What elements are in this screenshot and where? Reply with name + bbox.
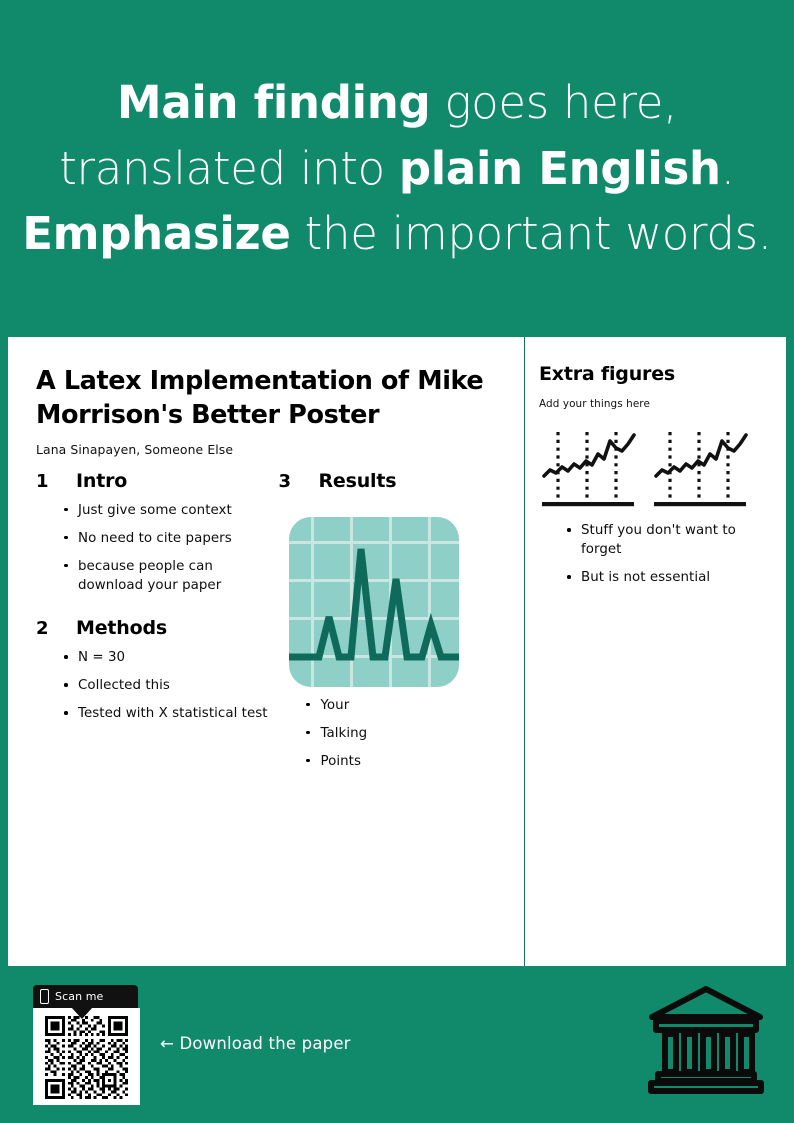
header-line-3: Emphasize the important words. [22,201,772,267]
methods-bullet-list: N = 30 Collected this Tested with X stat… [36,648,278,723]
institution-logo [646,983,766,1095]
badge-pointer-icon [71,1007,93,1019]
poster-body: A Latex Implementation of Mike Morrison'… [8,337,786,966]
section-title-methods: Methods [76,617,167,639]
section-heading-methods: 2 Methods [36,617,278,639]
header-line-1-rest: goes here, [430,76,677,129]
scan-me-badge: Scan me [33,985,138,1008]
section-number-3: 3 [278,471,318,492]
section-title-intro: Intro [76,470,127,492]
qr-code-svg [39,1016,134,1099]
results-figure-line [289,517,459,687]
qr-code-image[interactable] [33,1008,140,1105]
extra-figure-right [651,426,749,512]
page-title: A Latex Implementation of Mike Morrison'… [36,365,510,433]
extra-figures-row [539,426,772,512]
header-line-2-pre: translated into [59,142,399,195]
subcolumn-intro-methods: 1 Intro Just give some context No need t… [36,470,278,780]
header-line-2: translated into plain English. [59,136,735,202]
header-line-3-rest: the important words. [291,207,772,260]
author-list: Lana Sinapayen, Someone Else [36,442,510,457]
list-item: Just give some context [64,501,278,520]
section-title-results: Results [318,470,396,492]
header-line-3-bold: Emphasize [22,207,290,260]
scan-me-label: Scan me [55,990,103,1003]
list-item: Points [306,752,510,771]
bank-building-icon [646,983,766,1095]
poster-root: Main finding goes here, translated into … [0,0,794,1123]
section-number-2: 2 [36,618,76,639]
section-heading-intro: 1 Intro [36,470,278,492]
qr-code-block[interactable]: Scan me [33,985,140,1105]
list-item: Your [306,696,510,715]
left-column-grid: 1 Intro Just give some context No need t… [36,470,510,780]
list-item: N = 30 [64,648,278,667]
extra-bullet-list: Stuff you don't want to forget But is no… [539,521,772,587]
header-line-2-post: . [721,142,735,195]
header-line-1: Main finding goes here, [117,70,677,136]
left-column: A Latex Implementation of Mike Morrison'… [8,337,525,966]
section-number-1: 1 [36,471,76,492]
subcolumn-results: 3 Results [278,470,510,780]
header-line-1-bold: Main finding [117,76,431,129]
extra-figures-subtitle: Add your things here [539,398,772,410]
poster-footer: Scan me [0,966,794,1123]
list-item: Talking [306,724,510,743]
list-item: Collected this [64,676,278,695]
list-item: No need to cite papers [64,529,278,548]
section-heading-results: 3 Results [278,470,510,492]
phone-icon [40,989,49,1004]
list-item: because people can download your paper [64,557,278,595]
right-column: Extra figures Add your things here [525,337,786,966]
download-paper-label[interactable]: ← Download the paper [160,1034,351,1053]
poster-header-banner: Main finding goes here, translated into … [0,0,794,337]
extra-figures-heading: Extra figures [539,363,772,385]
results-figure-chart [289,517,459,687]
list-item: Tested with X statistical test [64,704,278,723]
intro-bullet-list: Just give some context No need to cite p… [36,501,278,595]
list-item: But is not essential [567,568,772,587]
list-item: Stuff you don't want to forget [567,521,772,559]
extra-figure-left [539,426,637,512]
results-bullet-list: Your Talking Points [278,696,510,771]
header-line-2-bold: plain English [399,142,721,195]
